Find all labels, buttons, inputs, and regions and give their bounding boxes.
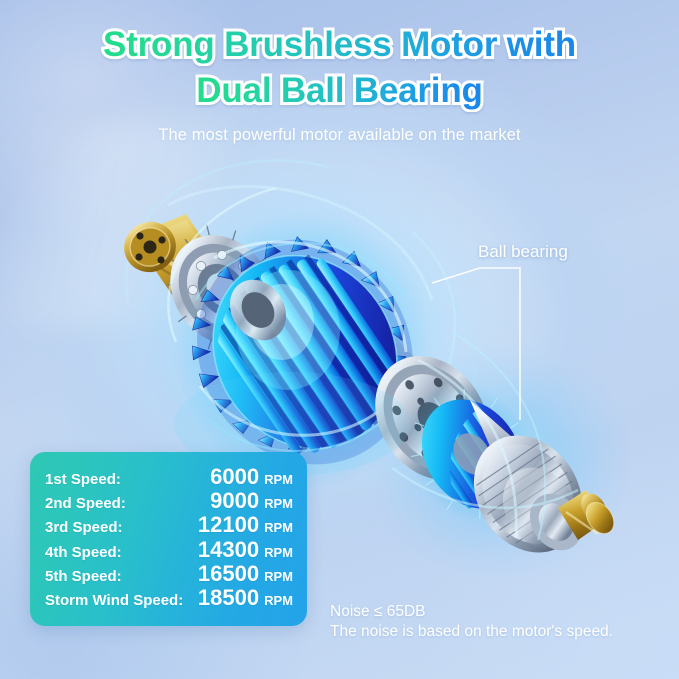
spec-label: 2nd Speed: [45,495,126,512]
spec-row: 1st Speed: 6000 RPM [45,466,293,490]
spec-label: 1st Speed: [45,471,121,488]
page-title-second-line: Dual Ball Bearing Dual Ball Bearing [0,68,679,114]
spec-value-group: 6000 RPM [210,466,293,488]
spec-value-group: 16500 RPM [198,563,293,585]
spec-value-group: 14300 RPM [198,539,293,561]
spec-unit: RPM [264,520,293,535]
spec-value-group: 12100 RPM [198,514,293,536]
page-title: Strong Brushless Motor with Strong Brush… [0,22,679,68]
spec-value-group: 18500 RPM [198,587,293,609]
spec-label: 5th Speed: [45,568,122,585]
title-line-1: Strong Brushless Motor with [103,22,576,68]
speed-specs-panel: 1st Speed: 6000 RPM 2nd Speed: 9000 RPM … [30,452,307,626]
spec-value: 9000 [210,490,259,512]
spec-unit: RPM [264,569,293,584]
spec-value: 6000 [210,466,259,488]
spec-label: 4th Speed: [45,544,122,561]
spec-row: 5th Speed: 16500 RPM [45,563,293,587]
spec-unit: RPM [264,496,293,511]
title-line-2: Dual Ball Bearing [196,68,482,114]
spec-unit: RPM [264,593,293,608]
header: Strong Brushless Motor with Strong Brush… [0,22,679,145]
spec-value: 12100 [198,514,259,536]
noise-description-text: The noise is based on the motor's speed. [330,622,613,642]
spec-unit: RPM [264,545,293,560]
spec-value: 16500 [198,563,259,585]
noise-level-text: Noise ≤ 65DB [330,602,613,622]
spec-row: Storm Wind Speed: 18500 RPM [45,587,293,611]
spec-value: 14300 [198,539,259,561]
spec-label: 3rd Speed: [45,519,123,536]
spec-value: 18500 [198,587,259,609]
subtitle: The most powerful motor available on the… [0,126,679,145]
spec-row: 3rd Speed: 12100 RPM [45,514,293,538]
noise-info: Noise ≤ 65DB The noise is based on the m… [330,602,613,643]
spec-unit: RPM [264,472,293,487]
spec-row: 4th Speed: 14300 RPM [45,539,293,563]
spec-label: Storm Wind Speed: [45,592,183,609]
spec-row: 2nd Speed: 9000 RPM [45,490,293,514]
spec-value-group: 9000 RPM [210,490,293,512]
